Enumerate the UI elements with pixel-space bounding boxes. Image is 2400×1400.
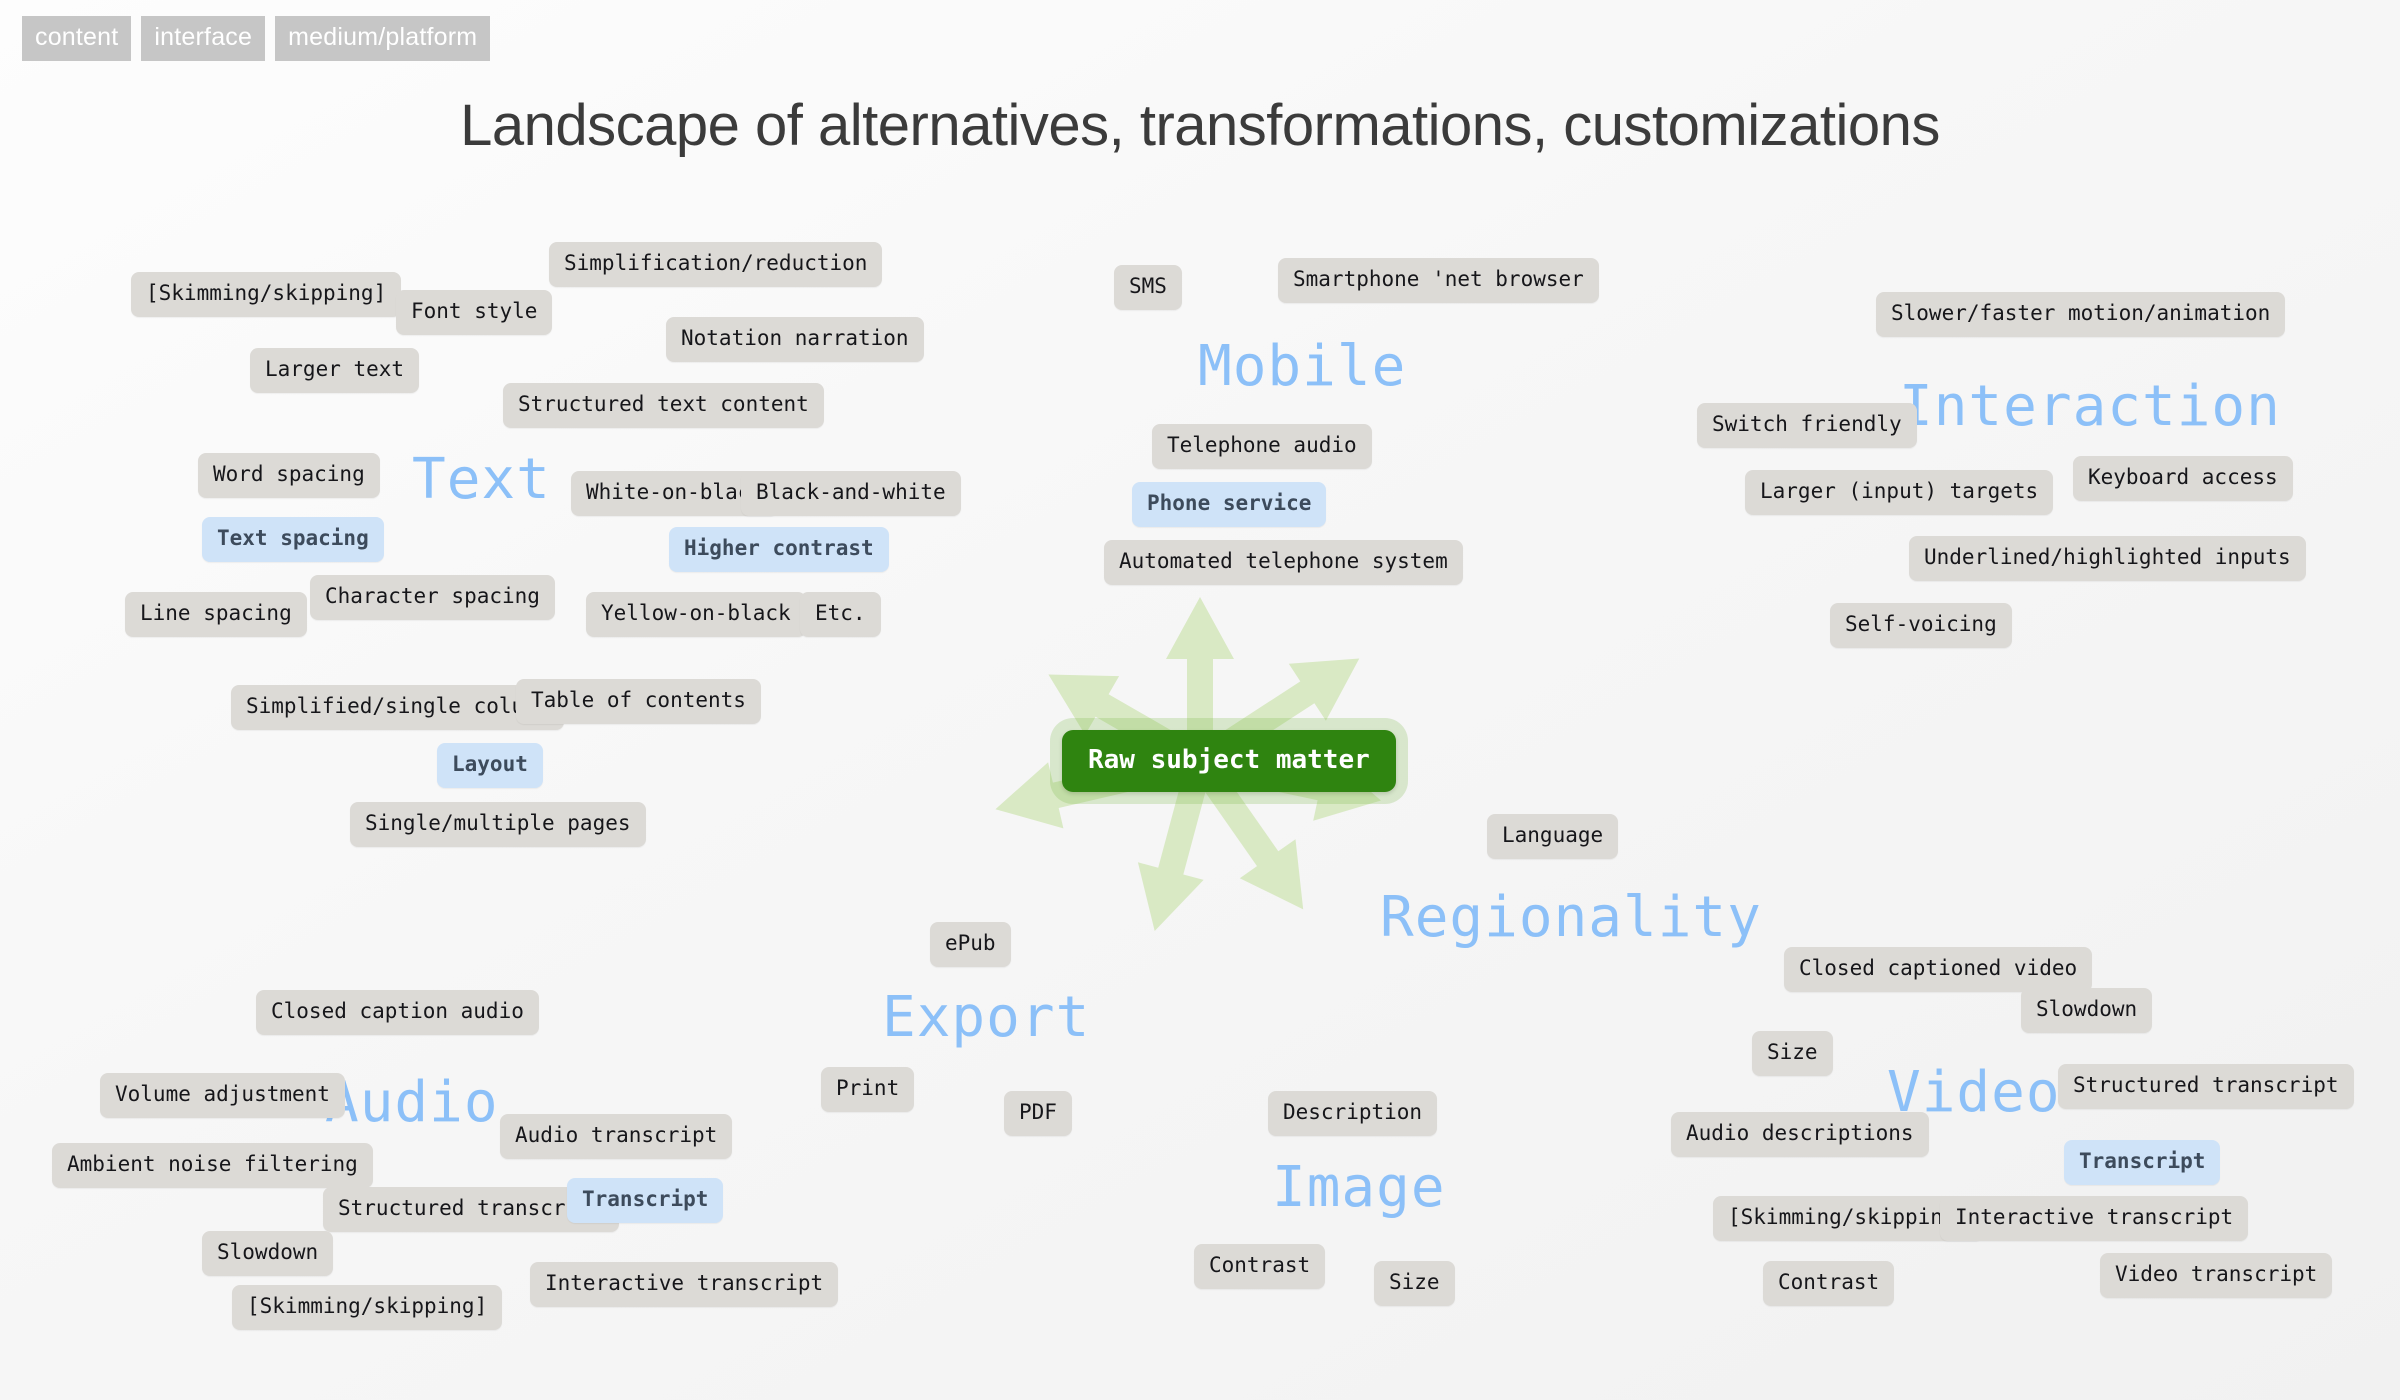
- chip[interactable]: Keyboard access: [2073, 456, 2293, 501]
- chip[interactable]: Closed caption audio: [256, 990, 539, 1035]
- chip[interactable]: Black-and-white: [741, 471, 961, 516]
- chip[interactable]: Volume adjustment: [100, 1073, 345, 1118]
- arrow-down-left: [1138, 768, 1210, 931]
- chip[interactable]: Transcript: [2064, 1140, 2220, 1185]
- chip[interactable]: Table of contents: [516, 679, 761, 724]
- chip[interactable]: Size: [1374, 1261, 1455, 1306]
- chip[interactable]: Interactive transcript: [530, 1262, 838, 1307]
- chip[interactable]: Phone service: [1132, 482, 1326, 527]
- chip[interactable]: Notation narration: [666, 317, 924, 362]
- chip[interactable]: Closed captioned video: [1784, 947, 2092, 992]
- arrow-up: [1166, 597, 1234, 752]
- chip[interactable]: Larger (input) targets: [1745, 470, 2053, 515]
- chip[interactable]: Simplification/reduction: [549, 242, 882, 287]
- chip[interactable]: Slowdown: [202, 1231, 333, 1276]
- cluster-heading-audio: Audio: [325, 1070, 499, 1135]
- cluster-heading-text: Text: [412, 447, 551, 512]
- chip[interactable]: Structured text content: [503, 383, 824, 428]
- chip[interactable]: Etc.: [800, 592, 881, 637]
- chip[interactable]: Slower/faster motion/animation: [1876, 292, 2285, 337]
- chip[interactable]: Higher contrast: [669, 527, 889, 572]
- chip[interactable]: Video transcript: [2100, 1253, 2332, 1298]
- diagram-canvas: content interface medium/platform Landsc…: [0, 0, 2400, 1400]
- center-node-raw-subject-matter[interactable]: Raw subject matter: [1062, 730, 1396, 792]
- tab-medium-platform[interactable]: medium/platform: [275, 16, 490, 61]
- cluster-heading-export: Export: [882, 985, 1090, 1050]
- chip[interactable]: Layout: [437, 743, 543, 788]
- chip[interactable]: Word spacing: [198, 453, 380, 498]
- chip[interactable]: Audio descriptions: [1671, 1112, 1929, 1157]
- tab-interface[interactable]: interface: [141, 16, 265, 61]
- chip[interactable]: Automated telephone system: [1104, 540, 1463, 585]
- tab-strip: content interface medium/platform: [22, 16, 490, 61]
- chip[interactable]: Contrast: [1194, 1244, 1325, 1289]
- chip[interactable]: Transcript: [567, 1178, 723, 1223]
- chip[interactable]: Description: [1268, 1091, 1437, 1136]
- chip[interactable]: Telephone audio: [1152, 424, 1372, 469]
- chip[interactable]: Character spacing: [310, 575, 555, 620]
- chip[interactable]: Contrast: [1763, 1261, 1894, 1306]
- cluster-heading-mobile: Mobile: [1198, 334, 1406, 399]
- chip[interactable]: SMS: [1114, 265, 1182, 310]
- chip[interactable]: Underlined/highlighted inputs: [1909, 536, 2306, 581]
- chip[interactable]: Print: [821, 1067, 914, 1112]
- chip[interactable]: Text spacing: [202, 517, 384, 562]
- chip[interactable]: Yellow-on-black: [586, 592, 806, 637]
- chip[interactable]: Switch friendly: [1697, 403, 1917, 448]
- chip[interactable]: Simplified/single column: [231, 685, 564, 730]
- cluster-heading-regionality: Regionality: [1380, 885, 1762, 950]
- cluster-heading-image: Image: [1272, 1155, 1446, 1220]
- chip[interactable]: [Skimming/skipping]: [131, 272, 401, 317]
- page-title: Landscape of alternatives, transformatio…: [0, 92, 2400, 159]
- chip[interactable]: [Skimming/skipping]: [232, 1285, 502, 1330]
- chip[interactable]: ePub: [930, 922, 1011, 967]
- chip[interactable]: Single/multiple pages: [350, 802, 646, 847]
- chip[interactable]: Size: [1752, 1031, 1833, 1076]
- chip[interactable]: Audio transcript: [500, 1114, 732, 1159]
- cluster-heading-interaction: Interaction: [1899, 374, 2281, 439]
- chip[interactable]: Slowdown: [2021, 988, 2152, 1033]
- chip[interactable]: Line spacing: [125, 592, 307, 637]
- chip[interactable]: Smartphone 'net browser: [1278, 258, 1599, 303]
- chip[interactable]: Font style: [396, 290, 552, 335]
- tab-content[interactable]: content: [22, 16, 131, 61]
- chip[interactable]: Self-voicing: [1830, 603, 2012, 648]
- chip[interactable]: Language: [1487, 814, 1618, 859]
- chip[interactable]: PDF: [1004, 1091, 1072, 1136]
- chip[interactable]: Larger text: [250, 348, 419, 393]
- chip[interactable]: Structured transcript: [2058, 1064, 2354, 1109]
- chip[interactable]: Ambient noise filtering: [52, 1143, 373, 1188]
- chip[interactable]: Interactive transcript: [1940, 1196, 2248, 1241]
